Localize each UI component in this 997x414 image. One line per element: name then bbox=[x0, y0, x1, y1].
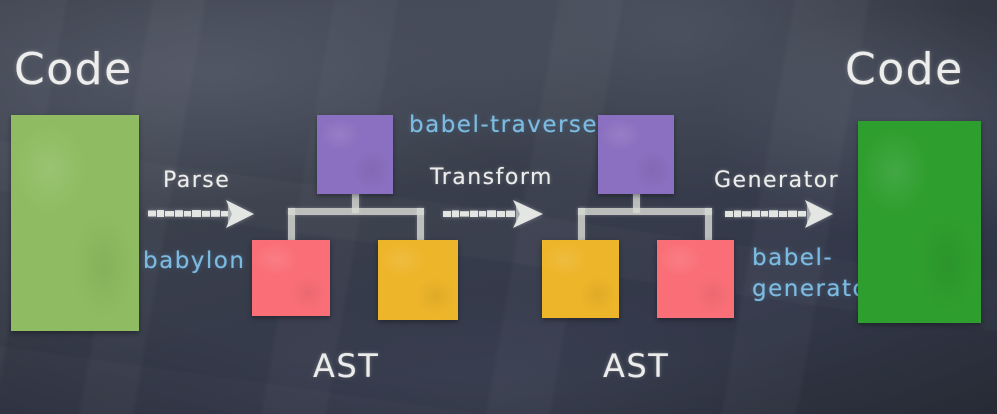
label-parse: Parse bbox=[163, 168, 230, 193]
label-generator: Generator bbox=[714, 168, 839, 193]
block-source-code bbox=[11, 115, 139, 331]
block-ast-left-child-2 bbox=[378, 240, 458, 320]
block-ast-left-child-1 bbox=[252, 240, 330, 316]
chalkboard-diagram: Code Parse babylon bbox=[0, 0, 997, 414]
arrow-parse-icon bbox=[148, 196, 258, 232]
block-output-code bbox=[858, 121, 981, 323]
block-ast-right-child-1 bbox=[542, 240, 619, 318]
label-code-right: Code bbox=[845, 44, 964, 95]
block-ast-left-root bbox=[317, 115, 393, 194]
arrow-generator-icon bbox=[725, 196, 837, 232]
label-transform: Transform bbox=[430, 165, 553, 190]
block-ast-right-root bbox=[598, 115, 674, 194]
label-babel-traverse: babel-traverse bbox=[409, 112, 598, 138]
label-ast-right: AST bbox=[603, 347, 669, 385]
label-code-left: Code bbox=[14, 44, 133, 95]
label-babel-generator: babel-generator bbox=[752, 243, 872, 305]
label-babylon: babylon bbox=[143, 248, 245, 274]
block-ast-right-child-2 bbox=[657, 240, 734, 318]
label-ast-left: AST bbox=[313, 347, 379, 385]
arrow-transform-icon bbox=[443, 196, 547, 232]
